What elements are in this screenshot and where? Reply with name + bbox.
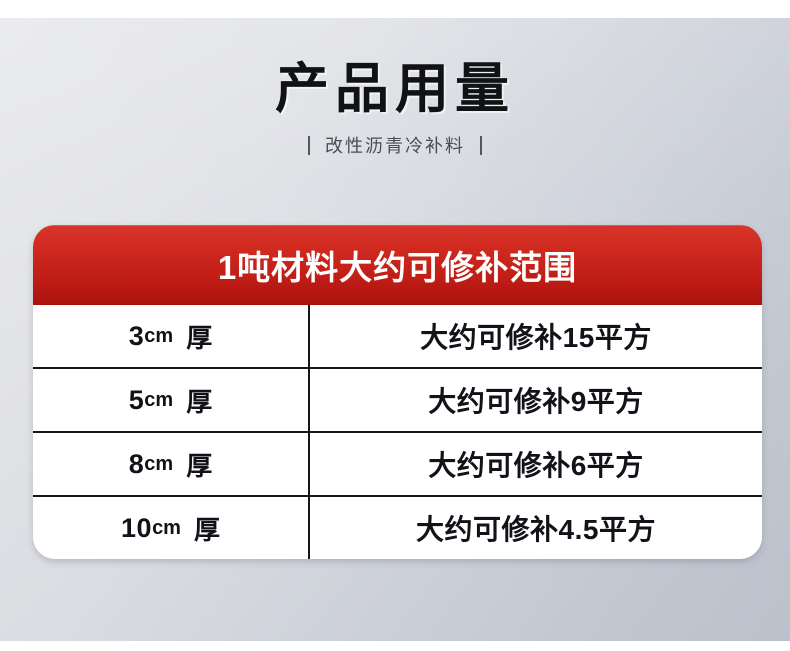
- table-row: 5cm厚 大约可修补9平方: [33, 367, 762, 431]
- divider-bar-left: [308, 136, 310, 155]
- table-row: 8cm厚 大约可修补6平方: [33, 431, 762, 495]
- coverage-text: 大约可修补15平方: [420, 316, 652, 356]
- thickness-unit: cm: [144, 453, 173, 476]
- thickness-word: 厚: [186, 318, 212, 355]
- coverage-cell: 大约可修补6平方: [310, 433, 762, 495]
- coverage-cell: 大约可修补4.5平方: [310, 497, 762, 559]
- table-row: 3cm厚 大约可修补15平方: [33, 305, 762, 367]
- page-subtitle: 改性沥青冷补料: [325, 132, 465, 158]
- coverage-card-banner-title: 1吨材料大约可修补范围: [218, 241, 577, 289]
- coverage-card-banner: 1吨材料大约可修补范围: [33, 225, 762, 305]
- thickness-cell: 8cm厚: [33, 433, 310, 495]
- coverage-card: 1吨材料大约可修补范围 3cm厚 大约可修补15平方 5cm厚 大约可修补9平方: [33, 225, 762, 559]
- header-block: 产品用量 改性沥青冷补料: [0, 60, 790, 158]
- thickness-word: 厚: [194, 510, 220, 547]
- coverage-cell: 大约可修补15平方: [310, 305, 762, 367]
- thickness-value: 8: [129, 449, 145, 480]
- thickness-unit: cm: [144, 325, 173, 348]
- coverage-table: 3cm厚 大约可修补15平方 5cm厚 大约可修补9平方 8cm厚: [33, 305, 762, 559]
- coverage-text: 大约可修补4.5平方: [416, 508, 656, 548]
- thickness-word: 厚: [186, 382, 212, 419]
- divider-bar-right: [480, 136, 482, 155]
- thickness-value: 10: [121, 513, 152, 544]
- thickness-word: 厚: [186, 446, 212, 483]
- product-usage-infographic: 产品用量 改性沥青冷补料 1吨材料大约可修补范围 3cm厚 大约可修补15平方 …: [0, 0, 790, 651]
- thickness-value: 5: [129, 385, 145, 416]
- thickness-unit: cm: [144, 389, 173, 412]
- thickness-cell: 10cm厚: [33, 497, 310, 559]
- thickness-unit: cm: [152, 517, 181, 540]
- thickness-cell: 3cm厚: [33, 305, 310, 367]
- coverage-text: 大约可修补6平方: [428, 444, 644, 484]
- page-title: 产品用量: [0, 60, 790, 118]
- coverage-text: 大约可修补9平方: [428, 380, 644, 420]
- thickness-cell: 5cm厚: [33, 369, 310, 431]
- subtitle-row: 改性沥青冷补料: [0, 132, 790, 158]
- coverage-cell: 大约可修补9平方: [310, 369, 762, 431]
- table-row: 10cm厚 大约可修补4.5平方: [33, 495, 762, 559]
- thickness-value: 3: [129, 321, 145, 352]
